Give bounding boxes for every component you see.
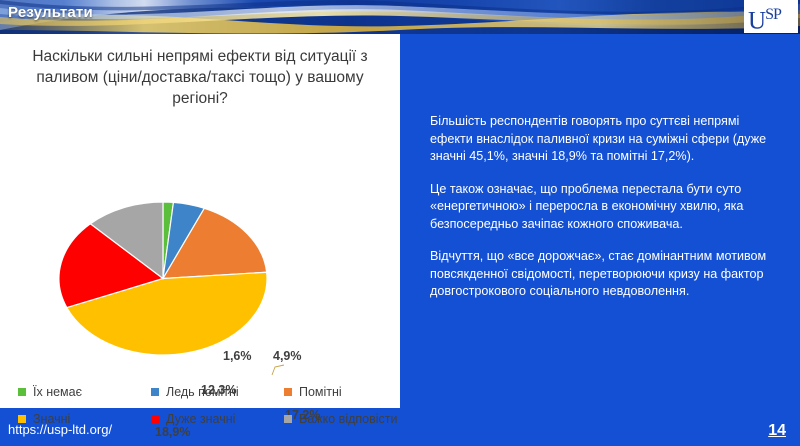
chart-panel: Наскільки сильні непрямі ефекти від ситу… [0,34,400,408]
legend-item-1[interactable]: Ледь помітні [151,385,284,399]
pie-chart-svg [58,201,268,356]
footer-page-number: 14 [768,422,786,440]
usp-logo-text: USP [748,1,781,33]
legend-label-1: Ледь помітні [166,385,239,399]
commentary-paragraph-1: Це також означає, що проблема перестала … [430,181,778,234]
banner-wave-decoration [0,0,800,34]
header-banner: Результати USP [0,0,800,34]
slide-section-title: Результати [8,4,93,21]
legend-swatch-4 [151,415,159,423]
chart-title: Наскільки сильні непрямі ефекти від ситу… [18,46,382,109]
usp-logo: USP [744,0,798,33]
legend-item-5[interactable]: Важко відповісти [284,412,386,426]
usp-logo-main: U [748,7,765,33]
legend-swatch-2 [284,388,292,396]
pie-label-0: 1,6% [223,349,252,363]
legend-label-2: Помітні [299,385,342,399]
footer-url[interactable]: https://usp-ltd.org/ [8,422,112,437]
legend-swatch-5 [284,415,292,423]
commentary-paragraph-0: Більшість респондентів говорять про сутт… [430,113,778,166]
usp-logo-superscript: SP [765,6,781,23]
legend-label-4: Дуже значні [166,412,235,426]
legend-swatch-0 [18,388,26,396]
legend-item-0[interactable]: Їх немає [18,385,151,399]
pie-label-1: 4,9% [273,349,302,363]
legend-label-5: Важко відповісти [299,412,398,426]
legend-swatch-1 [151,388,159,396]
legend-label-0: Їх немає [33,385,82,399]
slide-canvas: Результати USP Наскільки сильні непрямі … [0,0,800,446]
leader-line-blue [271,364,285,376]
pie-chart: 1,6% 4,9% 17,2% 45,1% 18,9% 12,3% [58,201,268,356]
legend-item-2[interactable]: Помітні [284,385,386,399]
commentary-text-block: Більшість респондентів говорять про сутт… [430,113,778,301]
legend-item-4[interactable]: Дуже значні [151,412,284,426]
commentary-paragraph-2: Відчуття, що «все дорожчає», стає доміна… [430,248,778,301]
